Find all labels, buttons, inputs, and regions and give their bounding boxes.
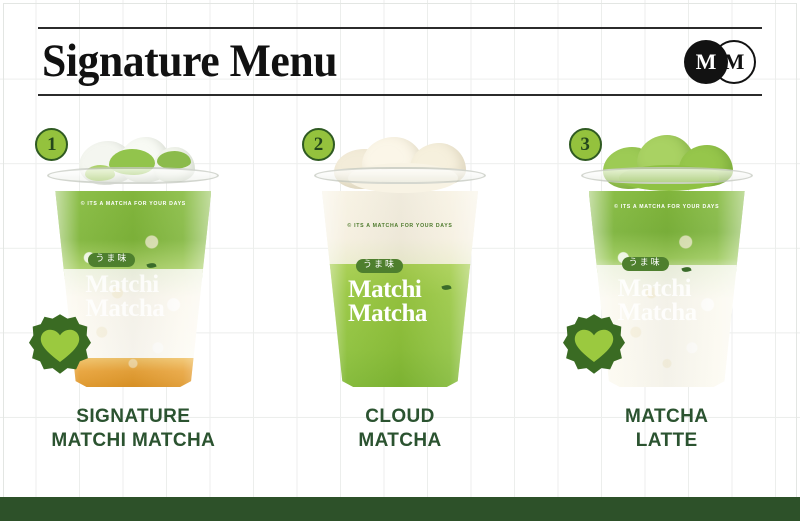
product-row: 1	[0, 118, 800, 458]
product-card-1[interactable]: 1	[0, 118, 267, 458]
cup-1-brand-line2: Matcha	[85, 297, 164, 320]
cup-illustration-3: 3	[557, 118, 777, 393]
product-caption-1: SIGNATURE MATCHI MATCHA	[51, 405, 215, 453]
product-name-1-line2: MATCHI MATCHA	[51, 429, 215, 453]
product-name-2-line1: CLOUD	[365, 406, 435, 427]
cup-2-umami-badge: うま味	[356, 259, 403, 273]
cup-2: © ITS A MATCHA FOR YOUR DAYS うま味 Matchi …	[314, 135, 486, 387]
cup-3-rim	[581, 167, 753, 184]
cup-2-brand-line1: Matchi	[348, 278, 421, 301]
number-badge-2: 2	[302, 128, 335, 161]
cup-1-slogan: © ITS A MATCHA FOR YOUR DAYS	[47, 201, 219, 207]
cup-3-brand-line2: Matcha	[618, 301, 697, 324]
product-caption-3: MATCHA LATTE	[625, 405, 708, 453]
logo-circle-dark: M	[684, 40, 728, 84]
cup-3-slogan: © ITS A MATCHA FOR YOUR DAYS	[581, 204, 753, 210]
product-name-3-line1: MATCHA	[625, 406, 708, 427]
product-name-3-line2: LATTE	[625, 429, 708, 453]
bottom-accent-bar	[0, 497, 800, 521]
cup-1-brand-line1: Matchi	[85, 273, 158, 296]
brand-logo: M M	[684, 40, 756, 84]
cup-2-slogan: © ITS A MATCHA FOR YOUR DAYS	[314, 223, 486, 229]
product-name-1-line1: SIGNATURE	[76, 406, 190, 427]
product-card-3[interactable]: 3	[533, 118, 800, 458]
heart-badge-3	[563, 313, 625, 375]
poster-header: Signature Menu M M	[38, 27, 762, 96]
cup-1-umami-badge: うま味	[88, 253, 135, 267]
number-badge-3: 3	[569, 128, 602, 161]
cup-2-brand-line2: Matcha	[348, 302, 427, 325]
product-name-2-line2: MATCHA	[358, 429, 441, 453]
product-card-2[interactable]: 2 © ITS A MATCHA FO	[267, 118, 534, 458]
cup-2-rim	[314, 167, 486, 184]
cup-illustration-2: 2 © ITS A MATCHA FO	[290, 118, 510, 393]
cup-illustration-1: 1	[23, 118, 243, 393]
product-caption-2: CLOUD MATCHA	[358, 405, 441, 453]
heart-badge-1	[29, 313, 91, 375]
signature-menu-poster: Signature Menu M M 1	[0, 0, 800, 521]
cup-3-umami-badge: うま味	[622, 257, 669, 271]
page-title: Signature Menu	[42, 38, 337, 85]
cup-3-brand-line1: Matchi	[618, 277, 691, 300]
cup-1-rim	[47, 167, 219, 184]
